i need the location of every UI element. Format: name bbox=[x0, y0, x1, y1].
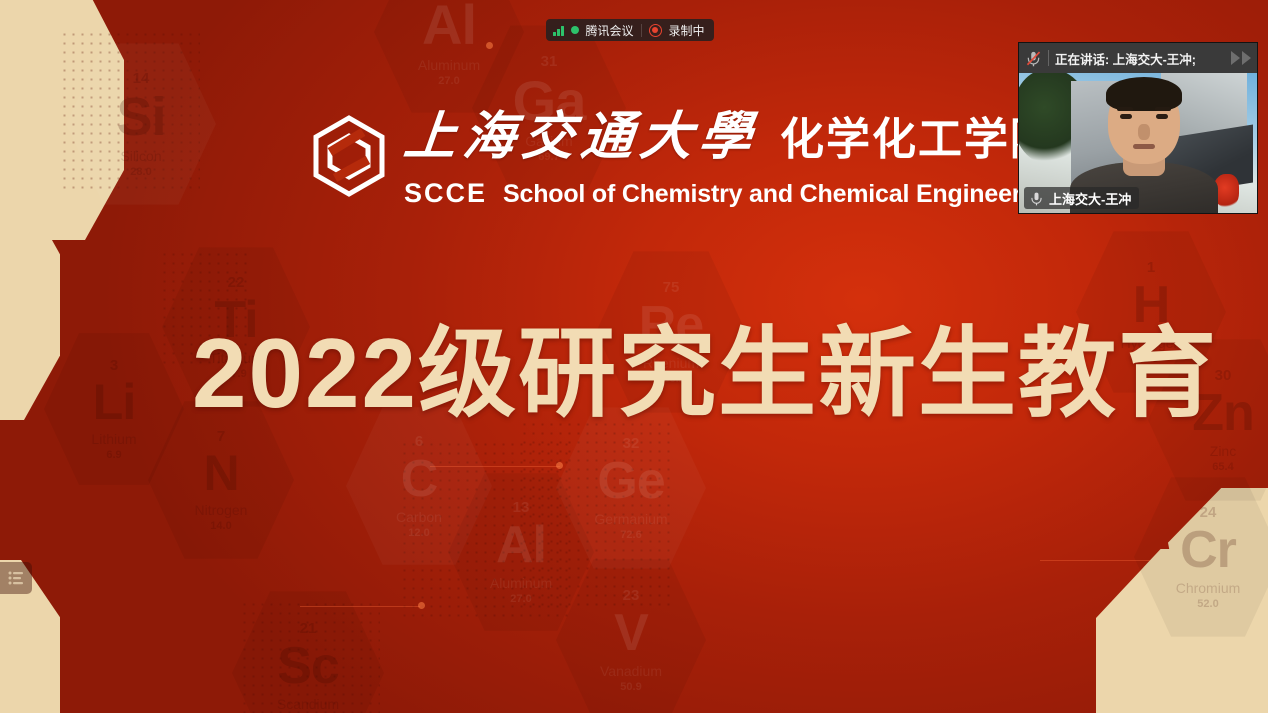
element-symbol: Ge bbox=[597, 455, 664, 507]
element-number: 21 bbox=[300, 621, 317, 636]
screen-share-stage: 14 Si Silicon 28.0 13 Al Aluminum 27.0 3… bbox=[0, 0, 1268, 713]
element-mass: 12.0 bbox=[408, 528, 429, 539]
element-mass: 27.0 bbox=[510, 594, 531, 605]
element-number: 13 bbox=[513, 500, 530, 515]
video-feed[interactable]: 上海交大-王冲 bbox=[1019, 73, 1257, 214]
element-mass: 50.9 bbox=[620, 682, 641, 693]
element-name: Lithium bbox=[91, 432, 136, 446]
signal-bars-icon bbox=[553, 25, 564, 36]
slide-title: 2022级研究生新生教育 bbox=[192, 322, 1218, 426]
element-number: 31 bbox=[541, 54, 558, 69]
dot-texture bbox=[400, 440, 570, 620]
element-mass: 65.4 bbox=[1212, 462, 1233, 473]
element-hex: 32 Ge Germanium 72.6 bbox=[556, 404, 706, 572]
element-hex: 13 Al Aluminum 27.0 bbox=[448, 470, 594, 634]
participant-video-panel[interactable]: 正在讲话: 上海交大-王冲; bbox=[1018, 42, 1258, 214]
element-number: 6 bbox=[415, 434, 423, 449]
record-dot-icon[interactable] bbox=[649, 24, 662, 37]
element-mass: 14.0 bbox=[210, 521, 231, 532]
logo-school-name-cn: 化学化工学院 bbox=[780, 118, 1056, 164]
element-name: Zinc bbox=[1210, 444, 1236, 458]
element-hex: 6 C Carbon 12.0 bbox=[346, 404, 492, 568]
connector-line bbox=[430, 466, 560, 467]
meeting-status-bar[interactable]: 腾讯会议 录制中 bbox=[546, 19, 714, 41]
logo-abbrev: SCCE bbox=[404, 178, 487, 209]
element-hex: 21 Sc Scandium 45.0 bbox=[232, 588, 384, 713]
element-symbol: N bbox=[203, 448, 238, 498]
speaking-status-label: 正在讲话: 上海交大-王冲; bbox=[1055, 49, 1196, 68]
participant-name-label: 上海交大-王冲 bbox=[1049, 189, 1131, 208]
element-mass: 28.0 bbox=[130, 167, 151, 178]
element-name: Aluminum bbox=[418, 58, 480, 72]
decorative-wedge-right bbox=[1168, 488, 1268, 618]
element-name: Nitrogen bbox=[195, 503, 248, 517]
status-dot-icon bbox=[571, 26, 579, 34]
element-name: Silicon bbox=[120, 149, 161, 163]
element-number: 1 bbox=[1147, 260, 1155, 275]
element-mass: 27.0 bbox=[438, 76, 459, 87]
element-symbol: V bbox=[614, 607, 648, 659]
connector-node bbox=[418, 602, 425, 609]
recording-label: 录制中 bbox=[669, 22, 705, 39]
connector-node bbox=[556, 462, 563, 469]
microphone-muted-icon[interactable] bbox=[1025, 50, 1042, 67]
element-symbol: Al bbox=[496, 519, 546, 571]
element-symbol: C bbox=[401, 453, 438, 505]
element-mass: 6.9 bbox=[106, 450, 121, 461]
element-number: 75 bbox=[663, 280, 680, 295]
chevron-right-icon[interactable] bbox=[1231, 51, 1251, 65]
element-symbol: Sc bbox=[277, 640, 339, 692]
element-hex: 23 V Vanadium 50.9 bbox=[556, 556, 706, 713]
connector-line bbox=[1040, 560, 1150, 561]
connector-line bbox=[300, 606, 420, 607]
element-number: 7 bbox=[217, 429, 225, 444]
element-number: 22 bbox=[228, 275, 245, 290]
element-name: Aluminum bbox=[490, 576, 552, 590]
sjtu-scce-logo: 上海交通大學 化学化工学院 SCCE School of Chemistry a… bbox=[308, 112, 1128, 209]
element-symbol: Al bbox=[422, 0, 476, 53]
element-number: 32 bbox=[623, 436, 640, 451]
element-name: Vanadium bbox=[600, 664, 662, 678]
scce-hexagon-logo-icon bbox=[308, 112, 390, 208]
element-number: 23 bbox=[623, 588, 640, 603]
element-name: Carbon bbox=[396, 510, 442, 524]
dot-texture bbox=[240, 600, 380, 713]
element-name: Scandium bbox=[277, 697, 339, 711]
element-hex: 3 Li Lithium 6.9 bbox=[44, 330, 184, 488]
divider bbox=[1048, 50, 1049, 66]
divider bbox=[641, 24, 642, 37]
connector-node bbox=[486, 42, 493, 49]
video-panel-header: 正在讲话: 上海交大-王冲; bbox=[1019, 43, 1257, 73]
element-number: 14 bbox=[133, 71, 150, 86]
element-name: Germanium bbox=[594, 512, 667, 526]
app-name-label: 腾讯会议 bbox=[586, 22, 634, 39]
logo-university-name-cn: 上海交通大學 bbox=[401, 112, 760, 164]
list-menu-icon[interactable] bbox=[0, 562, 32, 594]
participant-name-tag: 上海交大-王冲 bbox=[1024, 187, 1139, 209]
element-symbol: Li bbox=[93, 377, 135, 427]
element-mass: 72.6 bbox=[620, 530, 641, 541]
microphone-icon bbox=[1029, 191, 1044, 206]
element-hex: 13 Al Aluminum 27.0 bbox=[374, 0, 524, 116]
element-number: 3 bbox=[110, 358, 118, 373]
dot-texture bbox=[520, 420, 670, 610]
